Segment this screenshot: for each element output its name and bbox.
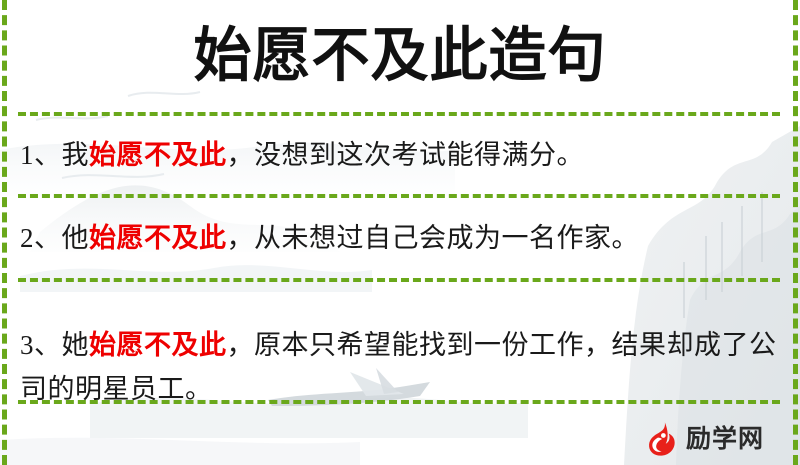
page-title: 始愿不及此造句 xyxy=(193,26,606,85)
sentence-after-2: ，从未想过自己会成为一名作家。 xyxy=(227,223,640,253)
sentence-index-3: 3、 xyxy=(20,330,62,360)
sentence-before-3: 她 xyxy=(62,330,90,360)
sentence-row-3: 3、她始愿不及此，原本只希望能找到一份工作，结果却成了公司的明星员工。 xyxy=(18,282,782,400)
frame-border-right xyxy=(793,0,798,465)
sentence-text-2: 2、他始愿不及此，从未想过自己会成为一名作家。 xyxy=(20,216,639,260)
site-logo[interactable]: 励学网 xyxy=(642,420,764,458)
sentence-text-1: 1、我始愿不及此，没想到这次考试能得满分。 xyxy=(20,133,584,177)
site-logo-text: 励学网 xyxy=(686,427,764,452)
footer: 励学网 xyxy=(18,404,782,465)
keyword-highlight-1: 始愿不及此 xyxy=(89,140,227,170)
sentence-row-1: 1、我始愿不及此，没想到这次考试能得满分。 xyxy=(18,116,782,194)
sentence-index-2: 2、 xyxy=(20,223,62,253)
flame-swirl-icon xyxy=(642,420,680,458)
keyword-highlight-3: 始愿不及此 xyxy=(89,330,227,360)
title-block: 始愿不及此造句 xyxy=(18,0,782,112)
sentence-row-2: 2、他始愿不及此，从未想过自己会成为一名作家。 xyxy=(18,198,782,278)
sentence-index-1: 1、 xyxy=(20,140,62,170)
sentence-text-3: 3、她始愿不及此，原本只希望能找到一份工作，结果却成了公司的明星员工。 xyxy=(20,323,780,411)
frame-border-left xyxy=(2,0,7,465)
keyword-highlight-2: 始愿不及此 xyxy=(89,223,227,253)
content-column: 始愿不及此造句 1、我始愿不及此，没想到这次考试能得满分。 2、他始愿不及此，从… xyxy=(18,0,782,465)
sentence-after-1: ，没想到这次考试能得满分。 xyxy=(227,140,585,170)
sentence-before-2: 他 xyxy=(62,223,90,253)
page-root: 始愿不及此造句 1、我始愿不及此，没想到这次考试能得满分。 2、他始愿不及此，从… xyxy=(0,0,800,465)
sentence-before-1: 我 xyxy=(62,140,90,170)
